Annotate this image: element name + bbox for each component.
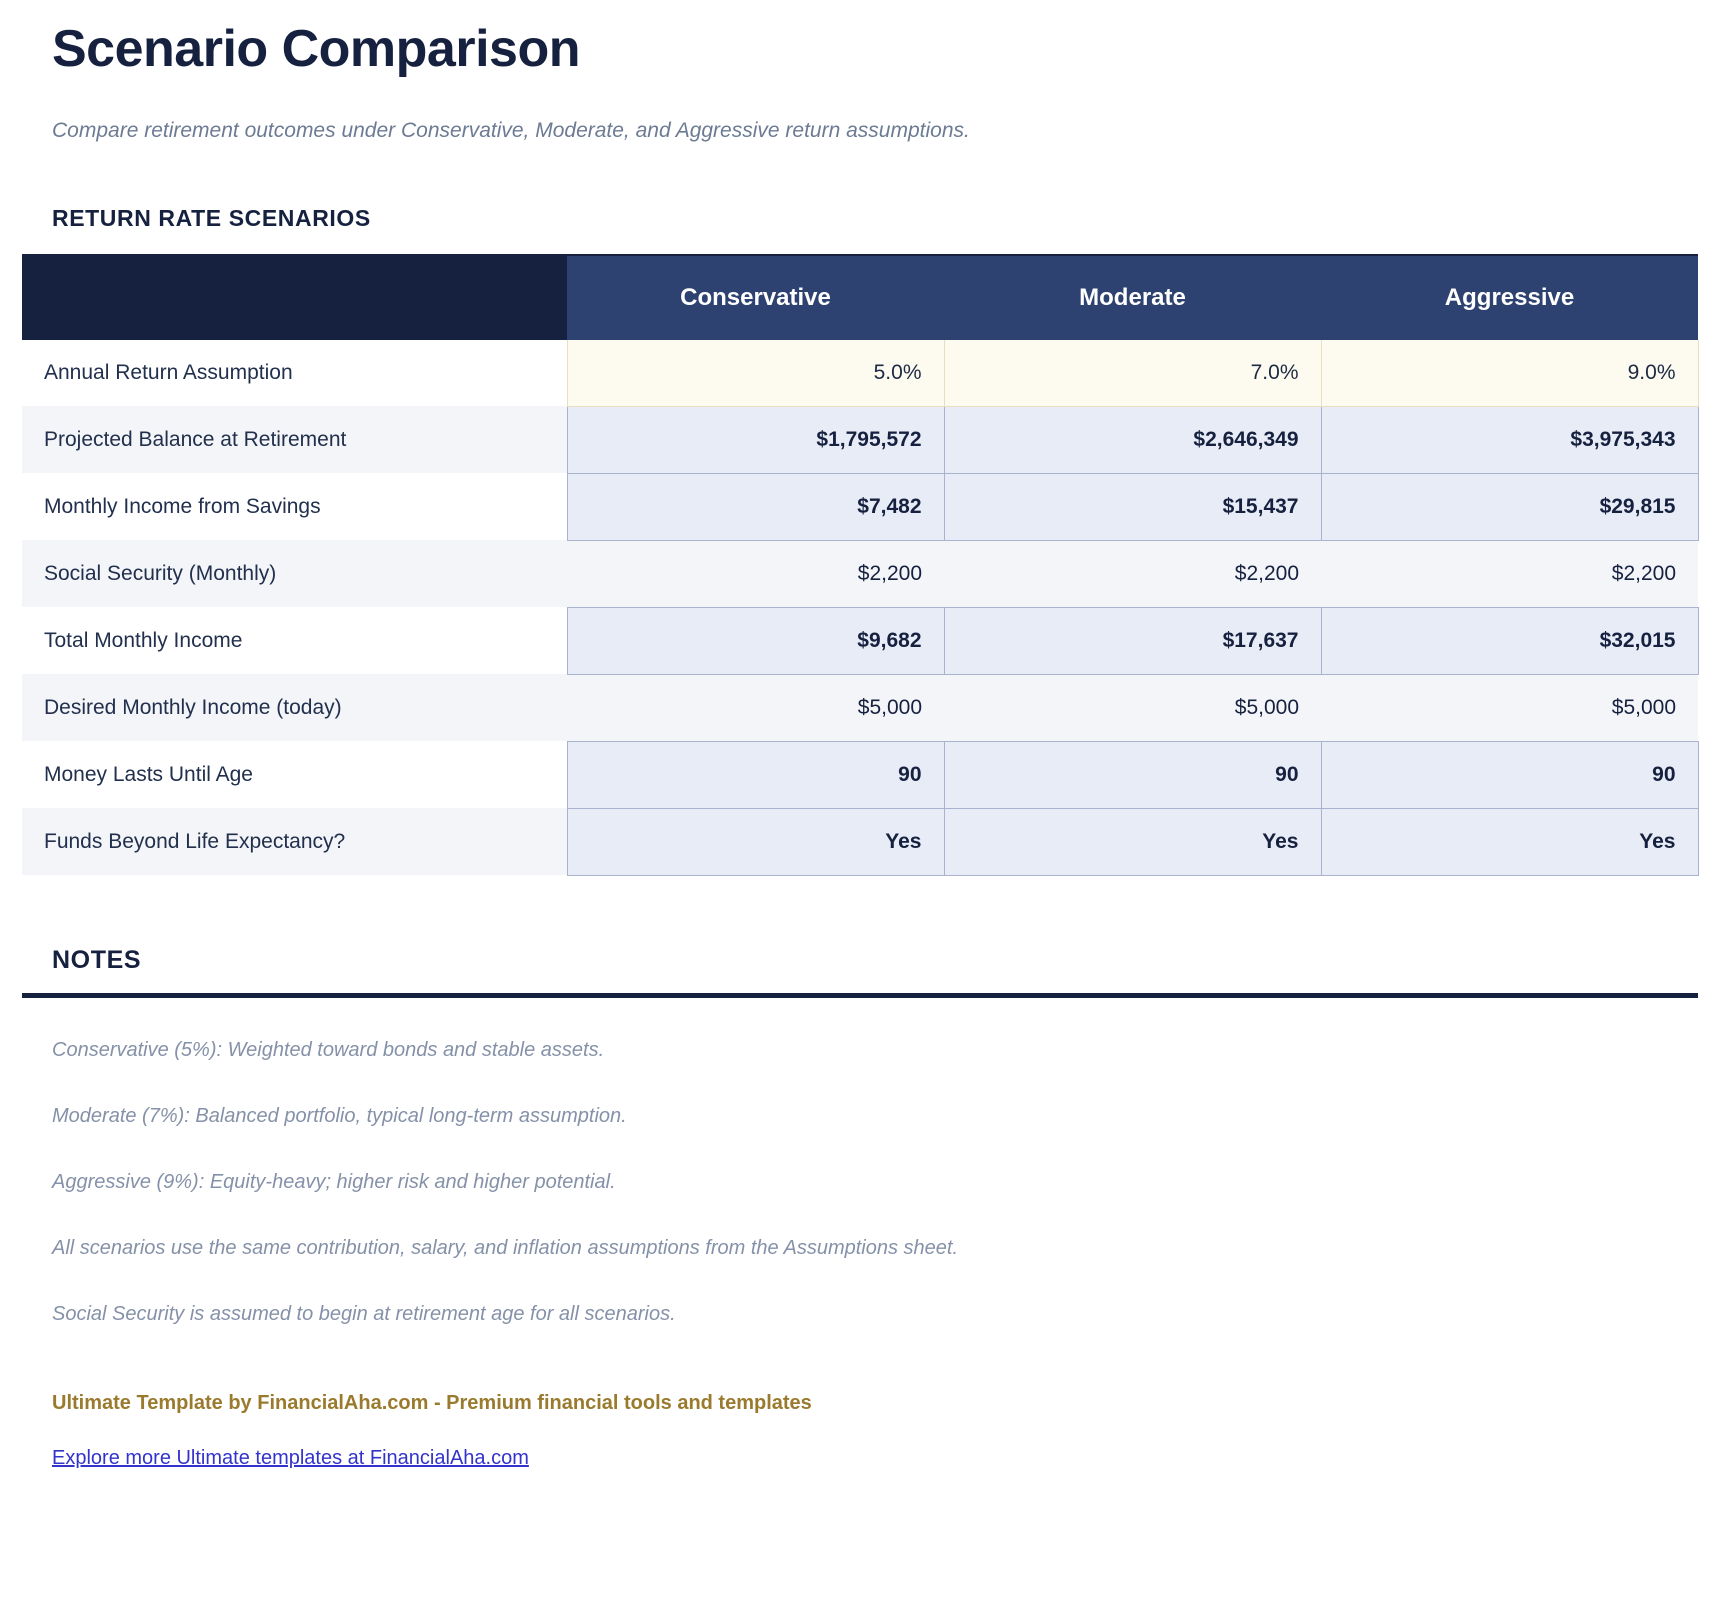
table-row-label: Funds Beyond Life Expectancy?	[22, 808, 567, 875]
table-cell: $2,200	[567, 540, 944, 607]
table-cell: 5.0%	[567, 340, 944, 407]
table-cell: 9.0%	[1321, 340, 1698, 407]
footer: Ultimate Template by FinancialAha.com - …	[22, 1326, 1698, 1470]
column-header-aggressive: Aggressive	[1321, 255, 1698, 340]
table-cell: $32,015	[1321, 607, 1698, 674]
table-cell: $3,975,343	[1321, 406, 1698, 473]
table-cell: $29,815	[1321, 473, 1698, 540]
note-line: All scenarios use the same contribution,…	[22, 1236, 1698, 1260]
table-cell: Yes	[567, 808, 944, 875]
table-cell: 90	[1321, 741, 1698, 808]
note-line: Social Security is assumed to begin at r…	[22, 1302, 1698, 1326]
table-body: Annual Return Assumption5.0%7.0%9.0%Proj…	[22, 340, 1698, 876]
table-row-label: Social Security (Monthly)	[22, 540, 567, 607]
table-row-label: Annual Return Assumption	[22, 340, 567, 407]
notes-divider	[22, 993, 1698, 998]
table-cell: $2,200	[944, 540, 1321, 607]
table-row-label: Monthly Income from Savings	[22, 473, 567, 540]
table-cell: 90	[567, 741, 944, 808]
table-cell: $9,682	[567, 607, 944, 674]
notes-heading: NOTES	[22, 946, 1698, 975]
table-cell: $5,000	[567, 674, 944, 741]
table-row-label: Desired Monthly Income (today)	[22, 674, 567, 741]
table-row-label: Projected Balance at Retirement	[22, 406, 567, 473]
scenario-comparison-page: Scenario Comparison Compare retirement o…	[0, 0, 1720, 1470]
table-cell: $15,437	[944, 473, 1321, 540]
scenario-table: Conservative Moderate Aggressive Annual …	[22, 254, 1699, 876]
table-cell: $2,200	[1321, 540, 1698, 607]
table-row: Money Lasts Until Age909090	[22, 741, 1698, 808]
note-line: Moderate (7%): Balanced portfolio, typic…	[22, 1104, 1698, 1128]
footer-template-link[interactable]: Explore more Ultimate templates at Finan…	[22, 1447, 529, 1470]
table-cell: 90	[944, 741, 1321, 808]
table-cell: $7,482	[567, 473, 944, 540]
table-cell: Yes	[944, 808, 1321, 875]
table-row: Monthly Income from Savings$7,482$15,437…	[22, 473, 1698, 540]
page-title: Scenario Comparison	[22, 0, 1698, 80]
table-row: Annual Return Assumption5.0%7.0%9.0%	[22, 340, 1698, 407]
table-row-label: Total Monthly Income	[22, 607, 567, 674]
section-heading-return-rate-scenarios: RETURN RATE SCENARIOS	[22, 143, 1698, 232]
table-row: Desired Monthly Income (today)$5,000$5,0…	[22, 674, 1698, 741]
table-row-label: Money Lasts Until Age	[22, 741, 567, 808]
table-cell: Yes	[1321, 808, 1698, 875]
scenario-table-wrapper: Conservative Moderate Aggressive Annual …	[22, 232, 1698, 876]
table-header-row: Conservative Moderate Aggressive	[22, 255, 1698, 340]
page-subtitle: Compare retirement outcomes under Conser…	[22, 80, 1698, 143]
table-row: Projected Balance at Retirement$1,795,57…	[22, 406, 1698, 473]
column-header-moderate: Moderate	[944, 255, 1321, 340]
note-line: Conservative (5%): Weighted toward bonds…	[22, 1038, 1698, 1062]
table-cell: $17,637	[944, 607, 1321, 674]
notes-list: Conservative (5%): Weighted toward bonds…	[22, 1038, 1698, 1326]
table-row: Funds Beyond Life Expectancy?YesYesYes	[22, 808, 1698, 875]
footer-brand-text: Ultimate Template by FinancialAha.com - …	[22, 1392, 1698, 1415]
table-corner-cell	[22, 255, 567, 340]
column-header-conservative: Conservative	[567, 255, 944, 340]
table-cell: $1,795,572	[567, 406, 944, 473]
table-header: Conservative Moderate Aggressive	[22, 255, 1698, 340]
notes-section: NOTES Conservative (5%): Weighted toward…	[22, 876, 1698, 1326]
table-row: Total Monthly Income$9,682$17,637$32,015	[22, 607, 1698, 674]
table-row: Social Security (Monthly)$2,200$2,200$2,…	[22, 540, 1698, 607]
table-cell: $2,646,349	[944, 406, 1321, 473]
table-cell: $5,000	[944, 674, 1321, 741]
table-cell: 7.0%	[944, 340, 1321, 407]
note-line: Aggressive (9%): Equity-heavy; higher ri…	[22, 1170, 1698, 1194]
table-cell: $5,000	[1321, 674, 1698, 741]
